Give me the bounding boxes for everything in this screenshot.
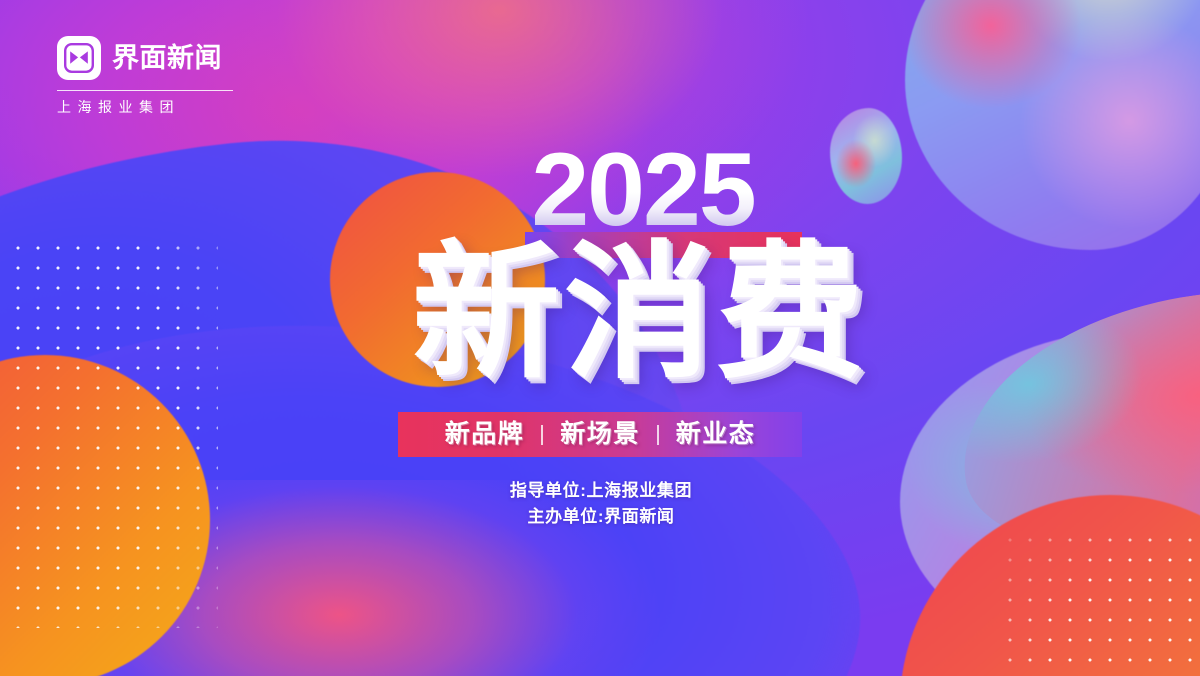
year-text: 2025 [531,138,754,242]
year-row: 2025 [0,138,1200,242]
tagline-divider-1 [541,425,543,445]
jiemian-bowtie-icon [57,36,101,80]
tagline-item-2: 新场景 [560,422,640,447]
credits-block: 指导单位:上海报业集团 主办单位:界面新闻 [2,478,1200,530]
promo-poster: 界面新闻 上海报业集团 2025 新消费 新品牌 新场景 新业态 指导单位:上海… [0,0,1200,676]
logo-divider [57,90,233,91]
brand-logo: 界面新闻 上海报业集团 [57,36,237,114]
organizer-unit-line: 主办单位:界面新闻 [2,504,1200,530]
tagline-item-3: 新业态 [676,422,756,447]
logo-parent-group: 上海报业集团 [57,100,237,114]
headline-text: 新消费 [412,240,868,388]
dot-grid-right [1000,530,1200,676]
logo-row: 界面新闻 [57,36,237,80]
tagline-divider-2 [657,425,659,445]
tagline-item-1: 新品牌 [445,422,525,447]
guidance-unit-line: 指导单位:上海报业集团 [2,478,1200,504]
tagline-bar: 新品牌 新场景 新业态 [398,412,802,457]
logo-wordmark: 界面新闻 [112,45,222,72]
headline-row: 新消费 [0,240,1200,388]
tagline-items: 新品牌 新场景 新业态 [445,422,756,447]
